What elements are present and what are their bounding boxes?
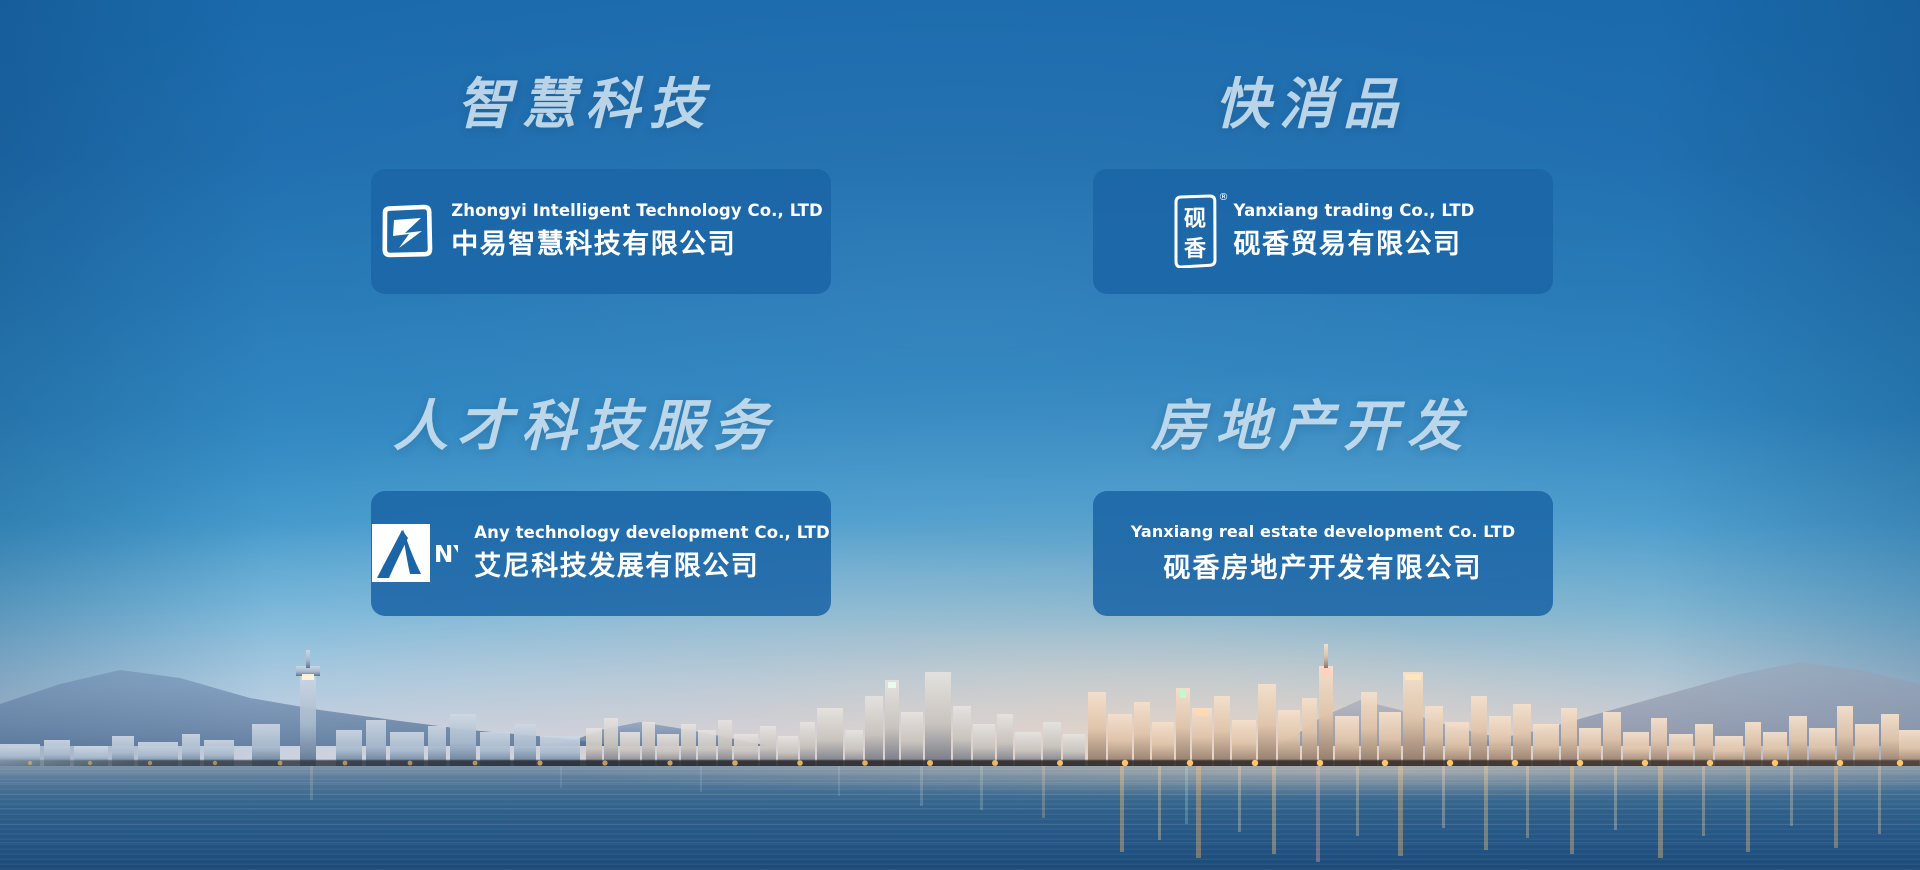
company-name-en-yanxiang-trading: Yanxiang trading Co., LTD (1234, 201, 1475, 220)
any-wordmark: NY (434, 542, 458, 568)
company-card-yanxiang-real-estate[interactable]: Yanxiang real estate development Co. LTD… (1093, 491, 1553, 616)
company-name-en-yanxiang-real-estate: Yanxiang real estate development Co. LTD (1131, 522, 1516, 541)
zhongyi-z-seal-icon (379, 203, 435, 259)
any-peak-icon: NY (372, 522, 458, 584)
sector-grid: 智慧科技 Zhongyi Intelligent Technology Co.,… (0, 0, 1920, 870)
sector-heading-fmcg: 快消品 (1215, 74, 1407, 135)
sector-fmcg: 快消品 砚 香 ® Yanxiang trading Co., LTD 砚香贸易… (960, 74, 1682, 396)
company-name-en-any: Any technology development Co., LTD (474, 523, 829, 542)
company-names-zhongyi: Zhongyi Intelligent Technology Co., LTD … (451, 201, 823, 261)
yanxiang-seal-icon: 砚 香 ® (1172, 194, 1218, 268)
sector-heading-smart-technology: 智慧科技 (457, 74, 713, 135)
company-card-yanxiang-trading[interactable]: 砚 香 ® Yanxiang trading Co., LTD 砚香贸易有限公司 (1093, 169, 1553, 294)
company-names-yanxiang-trading: Yanxiang trading Co., LTD 砚香贸易有限公司 (1234, 201, 1475, 261)
sector-heading-real-estate-development: 房地产开发 (1151, 396, 1471, 457)
company-names-yanxiang-real-estate: Yanxiang real estate development Co. LTD… (1131, 522, 1516, 585)
company-card-zhongyi[interactable]: Zhongyi Intelligent Technology Co., LTD … (371, 169, 831, 294)
sector-talent-technology-services: 人才科技服务 NY Any technology (238, 396, 960, 718)
sector-smart-technology: 智慧科技 Zhongyi Intelligent Technology Co.,… (238, 74, 960, 396)
sector-real-estate-development: 房地产开发 Yanxiang real estate development C… (960, 396, 1682, 718)
seal-char-top: 砚 (1184, 207, 1206, 232)
seal-char-bottom: 香 (1184, 237, 1206, 262)
company-name-en-zhongyi: Zhongyi Intelligent Technology Co., LTD (451, 201, 823, 220)
company-name-cn-yanxiang-trading: 砚香贸易有限公司 (1234, 222, 1475, 261)
company-name-cn-zhongyi: 中易智慧科技有限公司 (451, 222, 823, 261)
company-names-any: Any technology development Co., LTD 艾尼科技… (474, 523, 829, 583)
company-name-cn-any: 艾尼科技发展有限公司 (474, 544, 829, 583)
company-card-any[interactable]: NY Any technology development Co., LTD 艾… (371, 491, 831, 616)
company-sectors-banner: 智慧科技 Zhongyi Intelligent Technology Co.,… (0, 0, 1920, 870)
company-name-cn-yanxiang-real-estate: 砚香房地产开发有限公司 (1163, 546, 1482, 585)
registered-trademark-icon: ® (1219, 192, 1229, 203)
sector-heading-talent-technology-services: 人才科技服务 (393, 396, 777, 457)
